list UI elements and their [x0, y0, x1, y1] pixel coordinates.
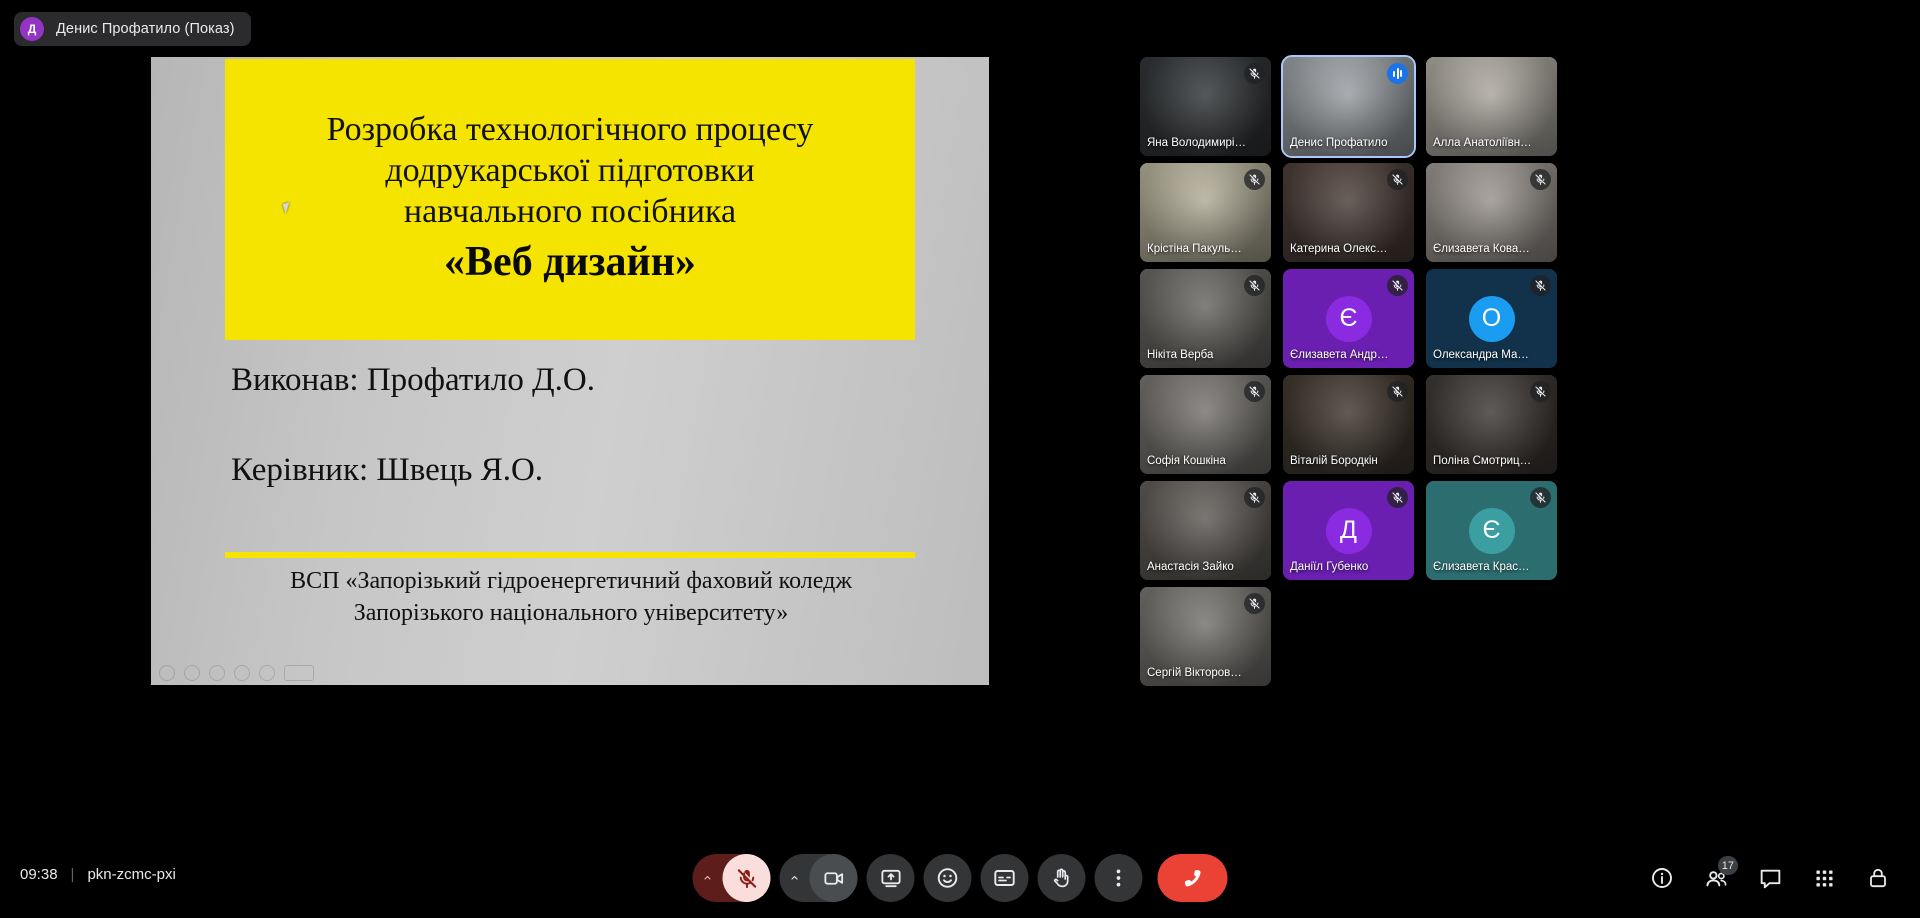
camera-control-group[interactable]: [780, 854, 858, 902]
slide-body: Виконав: Профатило Д.О. Керівник: Швець …: [231, 362, 931, 489]
mic-muted-icon: [1244, 275, 1265, 296]
shared-screen-stage[interactable]: Розробка технологічного процесу додрукар…: [14, 57, 1129, 685]
raise-hand-button[interactable]: [1038, 854, 1086, 902]
participant-name: Сергій Вікторович І...: [1147, 666, 1247, 680]
participant-tile[interactable]: Поліна Смотрицька: [1426, 375, 1557, 474]
mic-muted-icon: [1244, 169, 1265, 190]
mic-muted-icon: [1530, 275, 1551, 296]
slide-play-icon[interactable]: [184, 665, 200, 681]
slide-playback-controls[interactable]: [159, 665, 314, 681]
participants-count-badge: 17: [1718, 856, 1738, 875]
slide-menu-icon[interactable]: [234, 665, 250, 681]
slide-title-line-1: Розробка технологічного процесу: [327, 110, 814, 151]
mic-muted-icon: [1244, 593, 1265, 614]
mic-muted-icon: [1387, 275, 1408, 296]
slide-author-line: Виконав: Профатило Д.О.: [231, 362, 931, 398]
slide-divider-rule: [225, 552, 915, 558]
mic-muted-icon: [1387, 169, 1408, 190]
reactions-button[interactable]: [924, 854, 972, 902]
meeting-meta: 09:38 | pkn-zcmc-pxi: [20, 866, 176, 883]
meta-divider: |: [71, 866, 75, 883]
microphone-control-group[interactable]: [693, 854, 771, 902]
present-screen-button[interactable]: [867, 854, 915, 902]
slide-footer-line-2: Запорізького національного університету»: [191, 597, 951, 629]
bottom-toolbar: 09:38 | pkn-zcmc-pxi: [0, 838, 1920, 918]
participant-tile[interactable]: Нікіта Верба: [1140, 269, 1271, 368]
participant-name: Денис Профатило: [1290, 136, 1390, 150]
participant-name: Анастасія Зайко: [1147, 560, 1247, 574]
participant-tile[interactable]: ООлександра Маковоз: [1426, 269, 1557, 368]
activities-button[interactable]: [1800, 854, 1848, 902]
camera-button[interactable]: [810, 854, 858, 902]
slide-supervisor-line: Керівник: Швець Я.О.: [231, 452, 931, 488]
participant-tile[interactable]: Денис Профатило: [1283, 57, 1414, 156]
more-options-button[interactable]: [1095, 854, 1143, 902]
participant-tile[interactable]: Анастасія Зайко: [1140, 481, 1271, 580]
slide-more-icon[interactable]: [284, 665, 314, 681]
mic-muted-icon: [1387, 487, 1408, 508]
presenter-avatar: Д: [20, 17, 44, 41]
slide-footer-line-1: ВСП «Запорізький гідроенергетичний фахов…: [191, 565, 951, 597]
participant-tile[interactable]: Віталій Бородкін: [1283, 375, 1414, 474]
participant-name: Яна Володимирівна ...: [1147, 136, 1247, 150]
slide-zoom-icon[interactable]: [259, 665, 275, 681]
slide-title-line-2: додрукарської підготовки: [385, 151, 754, 192]
microphone-options-caret-icon[interactable]: [693, 854, 723, 902]
mic-muted-icon: [1244, 487, 1265, 508]
presentation-slide: Розробка технологічного процесу додрукар…: [151, 57, 989, 685]
meeting-time: 09:38: [20, 866, 58, 883]
host-controls-button[interactable]: [1854, 854, 1902, 902]
participant-grid: Яна Володимирівна ...Денис ПрофатилоАлла…: [1140, 57, 1906, 685]
chat-button[interactable]: [1746, 854, 1794, 902]
slide-pen-icon[interactable]: [209, 665, 225, 681]
microphone-off-button[interactable]: [723, 854, 771, 902]
participant-name: Нікіта Верба: [1147, 348, 1247, 362]
slide-title-line-3: навчального посібника: [404, 192, 736, 233]
avatar-initial: Д: [1326, 508, 1372, 554]
mic-muted-icon: [1530, 487, 1551, 508]
mic-muted-icon: [1387, 381, 1408, 402]
participant-name: Віталій Бородкін: [1290, 454, 1390, 468]
participant-tile[interactable]: Яна Володимирівна ...: [1140, 57, 1271, 156]
mic-muted-icon: [1244, 381, 1265, 402]
avatar-initial: Є: [1326, 296, 1372, 342]
participant-tile[interactable]: Крістіна Пакульська: [1140, 163, 1271, 262]
mic-muted-icon: [1530, 169, 1551, 190]
call-controls: [693, 854, 1228, 902]
slide-title-band: Розробка технологічного процесу додрукар…: [225, 59, 915, 340]
participant-tile[interactable]: Катерина Олександ...: [1283, 163, 1414, 262]
participant-tile[interactable]: Софія Кошкіна: [1140, 375, 1271, 474]
camera-options-caret-icon[interactable]: [780, 854, 810, 902]
presenter-label: Денис Профатило (Показ): [56, 21, 235, 37]
participant-name: Поліна Смотрицька: [1433, 454, 1533, 468]
slide-footer: ВСП «Запорізький гідроенергетичний фахов…: [191, 565, 951, 630]
participant-tile[interactable]: Сергій Вікторович І...: [1140, 587, 1271, 686]
participant-name: Єлизавета Красилюк: [1433, 560, 1533, 574]
participant-name: Алла Анатоліївна Ку...: [1433, 136, 1533, 150]
meeting-code[interactable]: pkn-zcmc-pxi: [87, 866, 175, 883]
slide-prev-icon[interactable]: [159, 665, 175, 681]
mic-muted-icon: [1530, 381, 1551, 402]
participant-name: Олександра Маковоз: [1433, 348, 1533, 362]
participant-name: Єлизавета Андріївн...: [1290, 348, 1390, 362]
right-toolbar-icons: 17: [1638, 854, 1902, 902]
meeting-details-button[interactable]: [1638, 854, 1686, 902]
slide-title-emphasis: «Веб дизайн»: [444, 236, 696, 289]
meet-window: Д Денис Профатило (Показ) Розробка техно…: [0, 0, 1920, 918]
participant-name: Катерина Олександ...: [1290, 242, 1390, 256]
participant-tile[interactable]: ЄЄлизавета Красилюк: [1426, 481, 1557, 580]
participants-button[interactable]: 17: [1692, 854, 1740, 902]
participant-tile[interactable]: Єлизавета Коваленко: [1426, 163, 1557, 262]
participant-tile[interactable]: ЄЄлизавета Андріївн...: [1283, 269, 1414, 368]
presenter-chip[interactable]: Д Денис Профатило (Показ): [14, 12, 251, 46]
participant-name: Даніїл Губенко: [1290, 560, 1390, 574]
participant-tile[interactable]: ДДаніїл Губенко: [1283, 481, 1414, 580]
participant-name: Крістіна Пакульська: [1147, 242, 1247, 256]
participant-tile[interactable]: Алла Анатоліївна Ку...: [1426, 57, 1557, 156]
participant-name: Єлизавета Коваленко: [1433, 242, 1533, 256]
avatar-initial: Є: [1469, 508, 1515, 554]
avatar-initial: О: [1469, 296, 1515, 342]
speaking-indicator-icon: [1387, 63, 1408, 84]
end-call-button[interactable]: [1158, 854, 1228, 902]
participant-name: Софія Кошкіна: [1147, 454, 1247, 468]
captions-button[interactable]: [981, 854, 1029, 902]
mic-muted-icon: [1244, 63, 1265, 84]
